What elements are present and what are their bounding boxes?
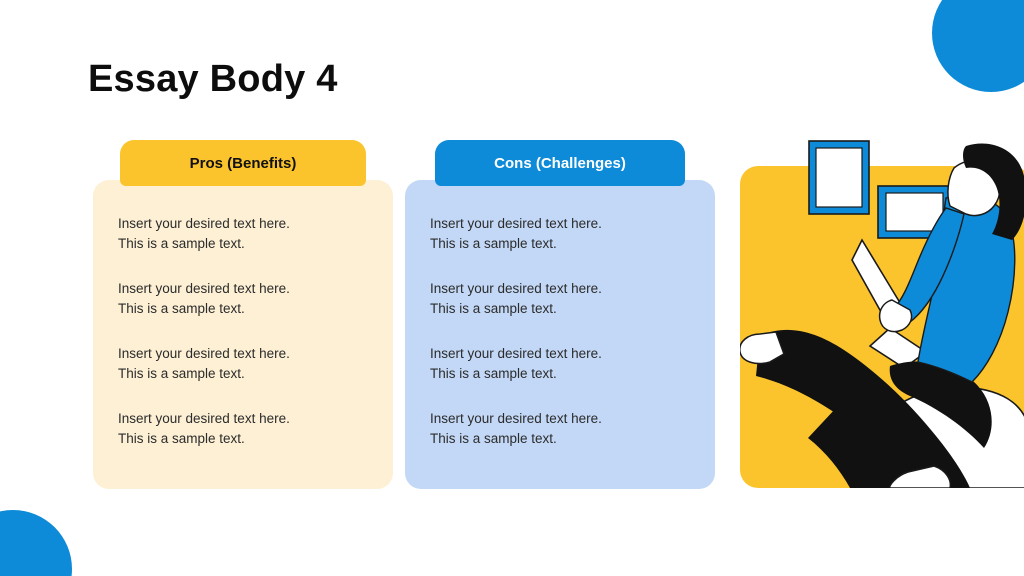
illustration-person-with-laptop — [740, 140, 1024, 488]
body-paragraph: Insert your desired text here. This is a… — [118, 409, 318, 448]
body-paragraph: Insert your desired text here. This is a… — [430, 214, 630, 253]
column-header-pros-label: Pros (Benefits) — [190, 155, 297, 172]
body-paragraph: Insert your desired text here. This is a… — [118, 344, 318, 383]
column-body-pros: Insert your desired text here. This is a… — [93, 180, 393, 489]
column-header-cons[interactable]: Cons (Challenges) — [435, 140, 685, 186]
body-paragraph: Insert your desired text here. This is a… — [118, 214, 318, 253]
column-body-cons: Insert your desired text here. This is a… — [405, 180, 715, 489]
body-paragraph: Insert your desired text here. This is a… — [118, 279, 318, 318]
decorative-circle-bottom-left — [0, 510, 72, 576]
body-paragraph: Insert your desired text here. This is a… — [430, 409, 630, 448]
body-paragraph: Insert your desired text here. This is a… — [430, 279, 630, 318]
column-header-pros[interactable]: Pros (Benefits) — [120, 140, 366, 186]
slide-canvas: Essay Body 4 Pros (Benefits) Insert your… — [0, 0, 1024, 576]
page-title: Essay Body 4 — [88, 58, 338, 101]
column-header-cons-label: Cons (Challenges) — [494, 155, 626, 172]
column-pros: Pros (Benefits) Insert your desired text… — [93, 140, 393, 489]
column-cons: Cons (Challenges) Insert your desired te… — [405, 140, 715, 489]
decorative-circle-top-right — [932, 0, 1024, 92]
body-paragraph: Insert your desired text here. This is a… — [430, 344, 630, 383]
picture-frame-portrait — [809, 141, 869, 214]
